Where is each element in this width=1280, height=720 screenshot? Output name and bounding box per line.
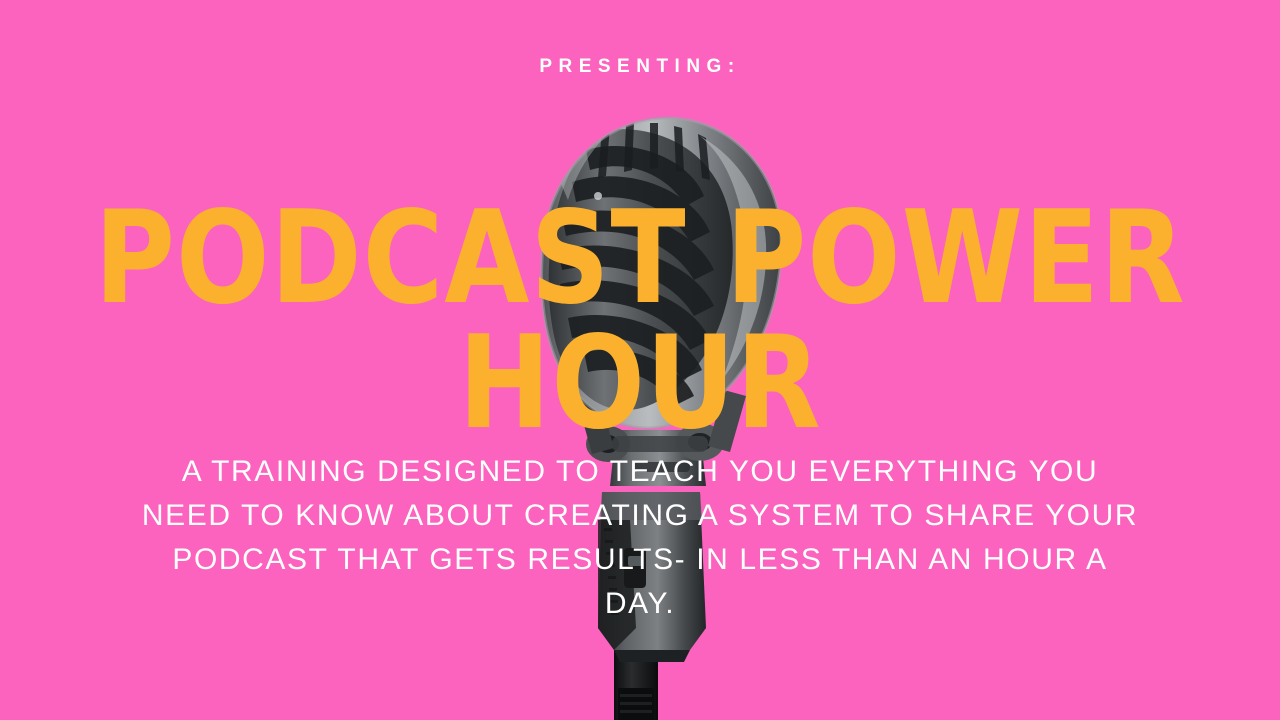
kicker-text: PRESENTING: xyxy=(0,56,1280,79)
subheading-text: A TRAINING DESIGNED TO TEACH YOU EVERYTH… xyxy=(140,450,1140,626)
promo-slide: PRESENTING: PODCAST POWER HOUR A TRAININ… xyxy=(0,0,1280,720)
mic-cable xyxy=(614,644,658,720)
page-title: PODCAST POWER HOUR xyxy=(90,196,1191,447)
